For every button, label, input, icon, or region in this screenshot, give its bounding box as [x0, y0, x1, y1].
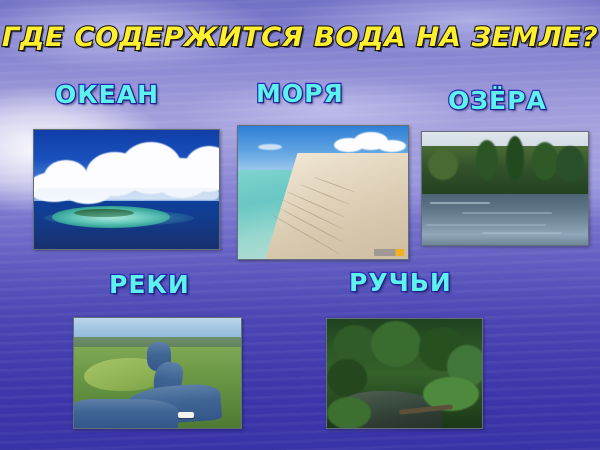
- tree-icon: [428, 150, 458, 180]
- label-ocean: ОКЕАН: [55, 80, 159, 109]
- slide-canvas: ГДЕ СОДЕРЖИТСЯ ВОДА НА ЗЕМЛЕ? ОКЕАН МОРЯ…: [0, 0, 600, 450]
- foliage-icon: [371, 321, 421, 367]
- cloud-icon: [258, 144, 282, 150]
- photo-rivers: [73, 317, 242, 429]
- cloud-haze: [34, 188, 219, 200]
- tree-icon: [532, 142, 558, 180]
- tree-icon: [556, 146, 584, 182]
- rivers-scene: [74, 318, 241, 428]
- cloud-icon: [378, 140, 406, 152]
- label-seas: МОРЯ: [256, 79, 344, 108]
- river-water: [74, 399, 178, 428]
- water-reflection: [430, 202, 490, 204]
- water-reflection: [426, 224, 546, 226]
- photo-ocean: [33, 129, 220, 250]
- label-rivers: РЕКИ: [109, 270, 190, 299]
- ocean-scene: [34, 130, 219, 249]
- label-streams: РУЧЬИ: [349, 268, 452, 297]
- boat: [178, 412, 194, 418]
- photo-streams: [326, 318, 483, 429]
- label-lakes: ОЗЁРА: [448, 86, 547, 115]
- tree-icon: [476, 140, 498, 180]
- water-reflection: [462, 212, 552, 214]
- lakes-scene: [422, 132, 588, 245]
- atoll-shallows: [44, 210, 194, 226]
- watermark: [374, 249, 404, 256]
- streams-scene: [327, 319, 482, 428]
- foliage-icon: [327, 359, 367, 397]
- tree-icon: [506, 136, 524, 180]
- foliage-icon: [327, 397, 371, 429]
- water-reflection: [482, 232, 562, 234]
- photo-lakes: [421, 131, 589, 246]
- photo-seas: [237, 125, 409, 260]
- page-title: ГДЕ СОДЕРЖИТСЯ ВОДА НА ЗЕМЛЕ?: [0, 22, 600, 53]
- seas-scene: [238, 126, 408, 259]
